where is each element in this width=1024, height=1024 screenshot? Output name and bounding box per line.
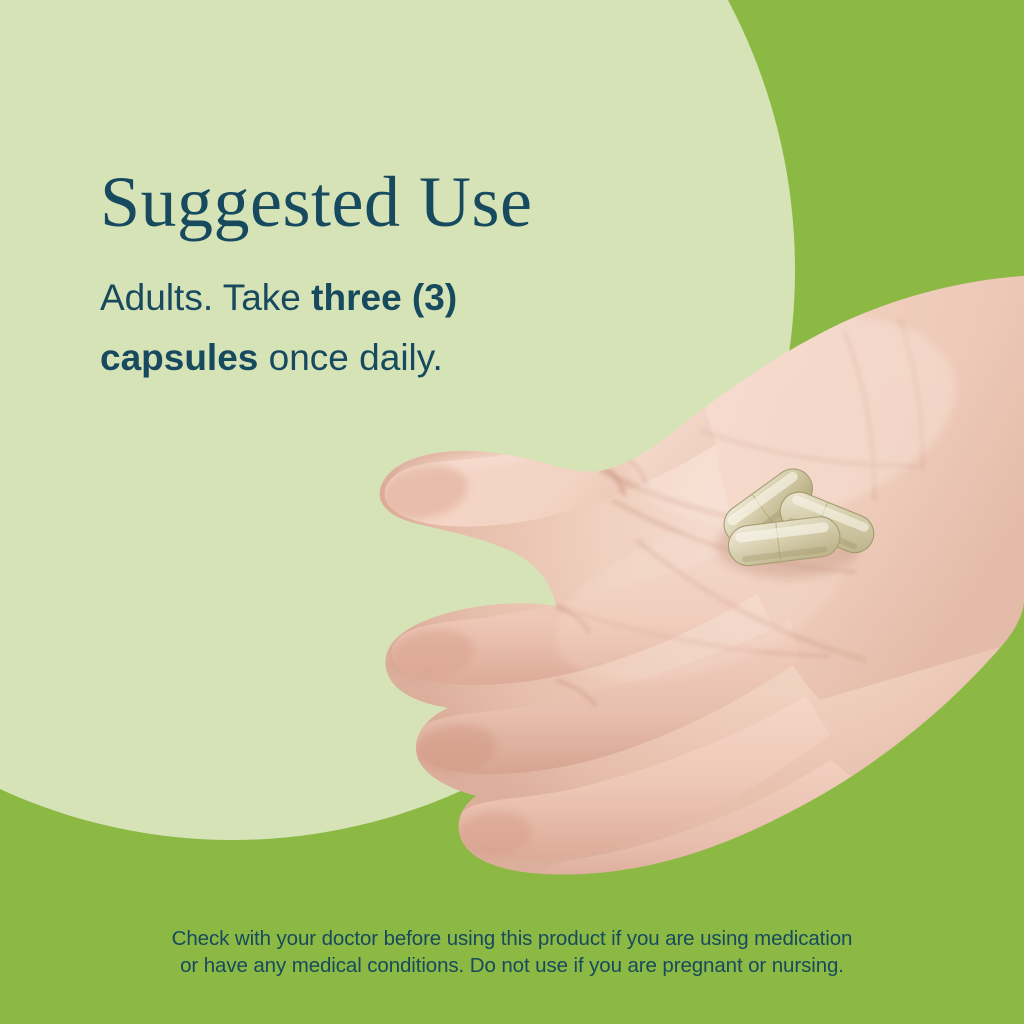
dosage-plain-1: Adults. Take <box>100 277 311 318</box>
suggested-use-card: Suggested Use Adults. Take three (3) cap… <box>0 0 1024 1024</box>
dosage-bold-1: three (3) <box>311 277 457 318</box>
page-title: Suggested Use <box>100 166 660 238</box>
copy-block: Suggested Use Adults. Take three (3) cap… <box>100 166 660 388</box>
dosage-bold-2: capsules <box>100 337 258 378</box>
disclaimer-line-2: or have any medical conditions. Do not u… <box>0 952 1024 979</box>
disclaimer: Check with your doctor before using this… <box>0 925 1024 980</box>
disclaimer-line-1: Check with your doctor before using this… <box>0 925 1024 952</box>
dosage-instruction: Adults. Take three (3) capsules once dai… <box>100 238 520 388</box>
dosage-plain-2: once daily. <box>258 337 442 378</box>
